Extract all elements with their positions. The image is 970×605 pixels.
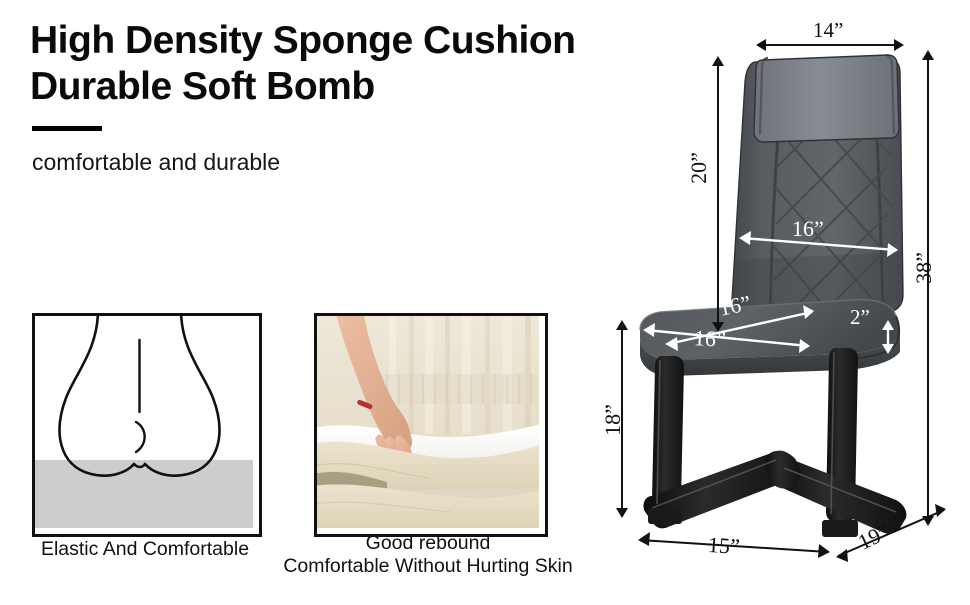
subtitle: comfortable and durable [32,149,680,176]
hand-pressing-memory-foam-icon [317,316,539,528]
rebound-photo-panel [314,313,548,537]
rebound-caption-line-2: Comfortable Without Hurting Skin [278,555,578,578]
seated-body-on-cushion-icon [35,316,253,528]
dim-label-backrest-height: 20” [686,152,712,184]
elastic-caption: Elastic And Comfortable [12,538,278,561]
title-divider [32,126,102,131]
dim-label-headrest-width: 14” [813,18,843,43]
title-line-1: High Density Sponge Cushion [30,19,576,62]
chair-illustration [600,0,970,600]
dim-label-seat-height: 18” [600,404,626,436]
dim-label-cushion-thickness: 2” [850,305,870,330]
page-title: High Density Sponge Cushion Durable Soft… [30,18,680,110]
rebound-caption: Good rebound Comfortable Without Hurting… [278,532,578,578]
title-line-2: Durable Soft Bomb [30,65,375,108]
infographic-canvas: High Density Sponge Cushion Durable Soft… [0,0,970,600]
headline-block: High Density Sponge Cushion Durable Soft… [30,18,680,176]
dim-label-overall-height: 38” [911,252,937,284]
rebound-caption-line-1: Good rebound [278,532,578,555]
dim-label-seat-width: 16” [693,325,726,353]
elastic-illustration-panel [32,313,262,537]
chair-diagram: 14” 20” 38” 16” 16” 16” 2” 18” 15” 19” [600,0,970,600]
dim-label-base-width: 15” [707,532,741,560]
dim-label-backrest-width: 16” [792,216,824,242]
